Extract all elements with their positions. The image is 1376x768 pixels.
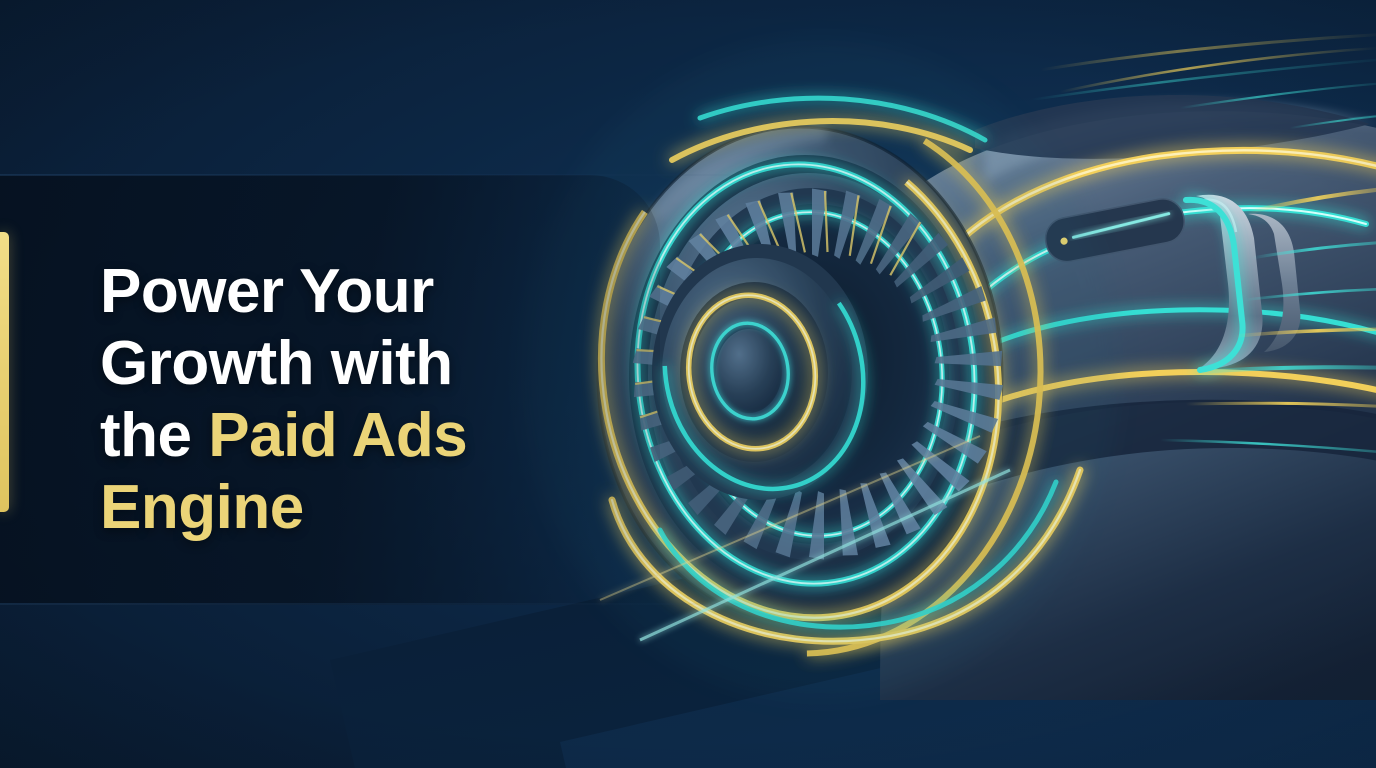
- page-title: Power Your Growth with the Paid Ads Engi…: [100, 256, 620, 544]
- hero-banner: Power Your Growth with the Paid Ads Engi…: [0, 0, 1376, 768]
- headline-line-4-accent: Engine: [100, 472, 620, 544]
- headline-line-1: Power Your: [100, 256, 620, 328]
- headline-line-3: the Paid Ads: [100, 400, 620, 472]
- headline-line-3-accent: Paid Ads: [208, 401, 467, 470]
- headline-line-3-plain: the: [100, 401, 208, 470]
- left-yellow-accent-bar: [0, 232, 9, 512]
- headline-line-2: Growth with: [100, 328, 620, 400]
